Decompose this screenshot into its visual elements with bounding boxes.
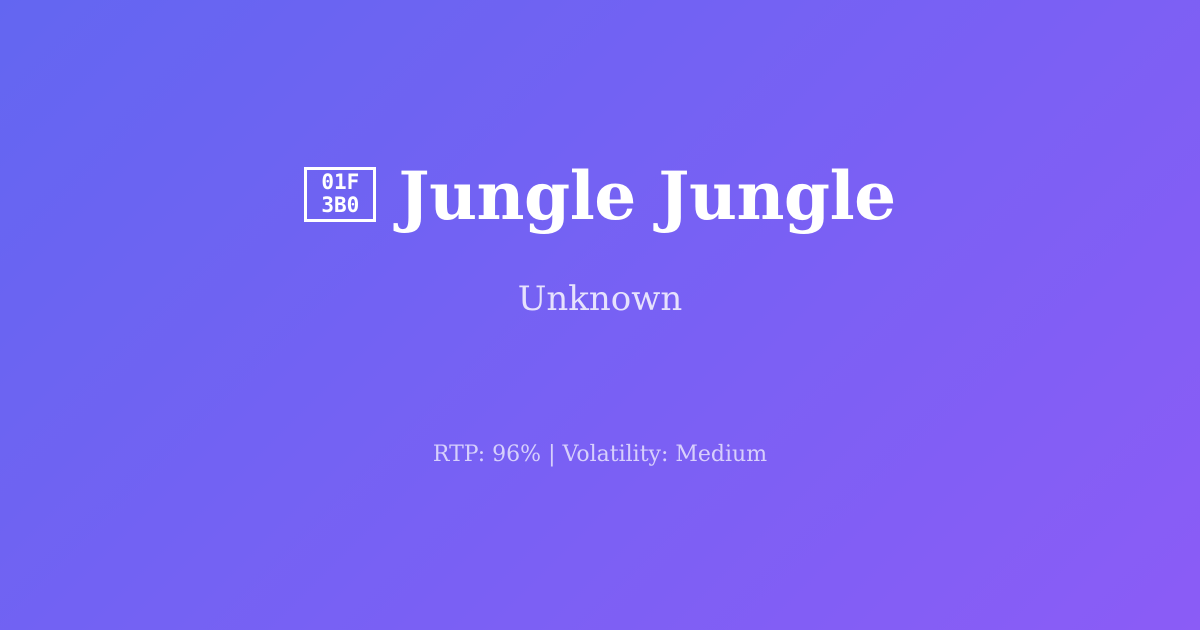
provider-label: Unknown: [518, 279, 683, 320]
og-preview-card: 01F 3B0 Jungle Jungle Unknown RTP: 96% |…: [0, 0, 1200, 630]
slot-machine-emoji-icon: 01F 3B0: [304, 167, 376, 222]
game-title-row: 01F 3B0 Jungle Jungle: [304, 162, 895, 231]
tofu-codepoint-bottom: 3B0: [321, 194, 359, 217]
game-meta-line: RTP: 96% | Volatility: Medium: [433, 442, 767, 468]
page-title: Jungle Jungle: [398, 162, 895, 231]
tofu-codepoint-top: 01F: [321, 171, 359, 194]
